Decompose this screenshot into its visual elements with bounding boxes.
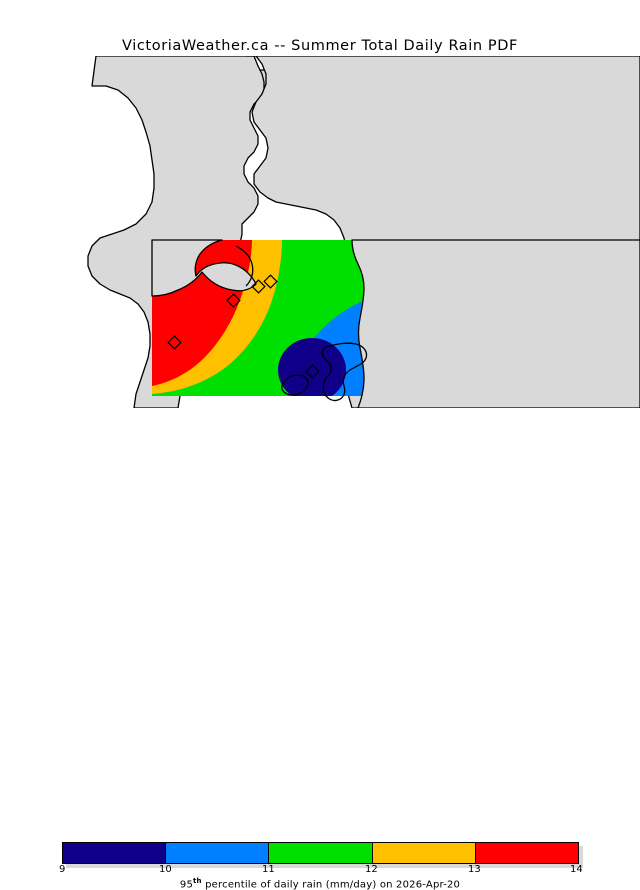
colorbar-tick-label: 11 (262, 864, 275, 875)
caption-prefix: 95 (180, 879, 193, 890)
caption-superscript: th (193, 877, 202, 885)
colorbar-area: 9 10 11 12 13 14 95th percentile of dail… (0, 418, 640, 480)
colorbar-segment-10-11 (165, 843, 268, 863)
colorbar-tick-label: 10 (159, 864, 172, 875)
map-canvas (0, 56, 640, 408)
colorbar-segment-12-13 (372, 843, 475, 863)
colorbar[interactable] (62, 842, 579, 864)
colorbar-tick-label: 14 (570, 864, 583, 875)
page-title: VictoriaWeather.ca -- Summer Total Daily… (0, 38, 640, 54)
east-land-overlay (352, 240, 640, 408)
colorbar-segment-9-10 (63, 843, 165, 863)
band-9-10 (278, 338, 346, 402)
colorbar-caption: 95th percentile of daily rain (mm/day) o… (0, 877, 640, 890)
colorbar-tick-label: 12 (365, 864, 378, 875)
colorbar-segment-13-14 (475, 843, 578, 863)
colorbar-ticks: 9 10 11 12 13 14 (0, 864, 640, 878)
colorbar-segment-11-12 (268, 843, 371, 863)
colorbar-tick-label: 13 (468, 864, 481, 875)
map-svg (0, 56, 640, 408)
caption-rest: percentile of daily rain (mm/day) on 202… (202, 879, 460, 890)
weather-map-page: VictoriaWeather.ca -- Summer Total Daily… (0, 0, 640, 480)
colorbar-tick-label: 9 (59, 864, 65, 875)
